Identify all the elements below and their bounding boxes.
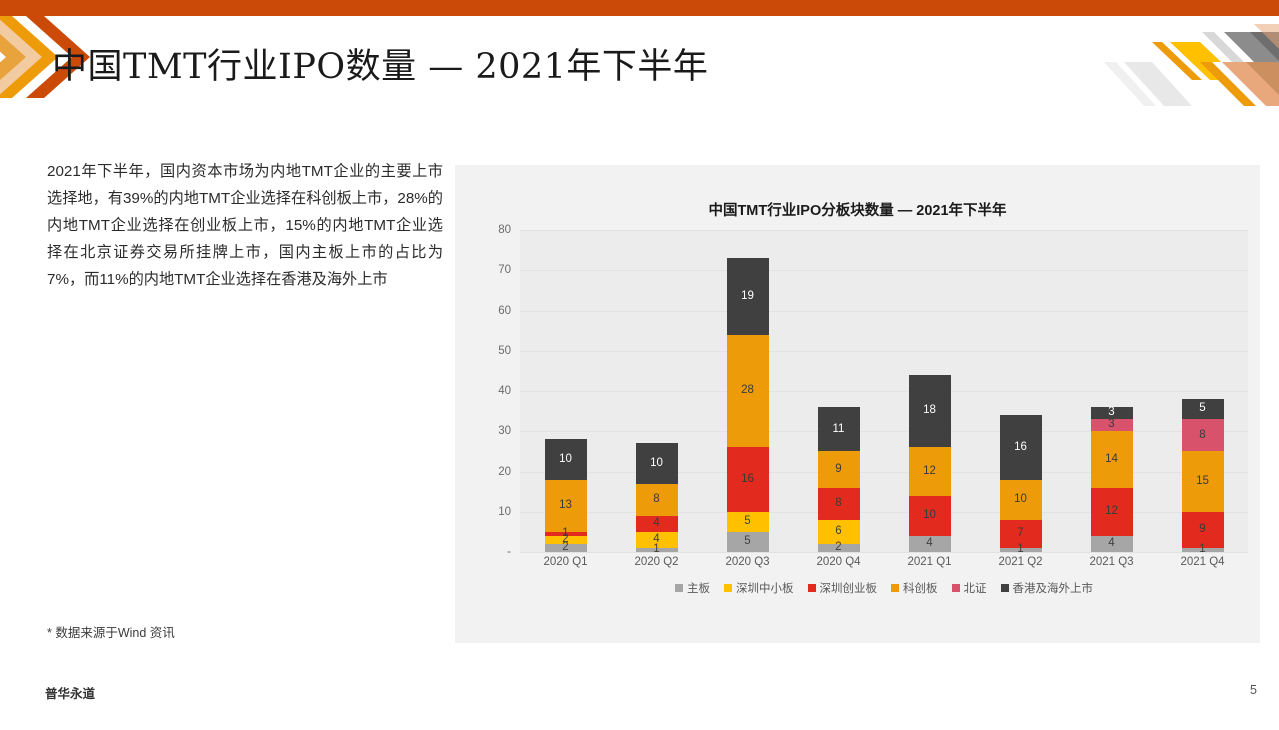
bar-column[interactable]: 19281655 bbox=[702, 230, 793, 552]
page-title: 中国TMT行业IPO数量 — 2021年下半年 bbox=[52, 38, 708, 89]
bar-segment[interactable]: 18 bbox=[909, 375, 951, 447]
bar-segment-value: 2 bbox=[835, 542, 841, 554]
bar-segment-value: 6 bbox=[835, 526, 841, 538]
bar-segment-value: 11 bbox=[833, 424, 845, 436]
bar-segment-value: 7 bbox=[1017, 528, 1023, 540]
header-chevron-decoration-right bbox=[1104, 16, 1279, 106]
bar-segment[interactable]: 8 bbox=[818, 488, 860, 520]
legend-swatch-icon bbox=[891, 584, 899, 592]
bar-stack: 581591 bbox=[1182, 399, 1224, 552]
bar-segment-value: 10 bbox=[1014, 494, 1027, 506]
body-paragraph: 2021年下半年，国内资本市场为内地TMT企业的主要上市选择地，有39%的内地T… bbox=[47, 158, 443, 293]
legend-swatch-icon bbox=[724, 584, 732, 592]
bar-stack: 161071 bbox=[1000, 415, 1042, 552]
bar-segment-value: 12 bbox=[1105, 506, 1118, 518]
bar-segment[interactable]: 9 bbox=[818, 451, 860, 487]
bar-segment[interactable]: 19 bbox=[727, 258, 769, 334]
bar-segment[interactable]: 16 bbox=[727, 447, 769, 511]
bar-segment-value: 14 bbox=[1105, 454, 1118, 466]
bar-segment-value: 13 bbox=[559, 500, 572, 512]
bar-segment[interactable]: 14 bbox=[1091, 431, 1133, 487]
bar-segment-value: 1 bbox=[1017, 544, 1023, 556]
legend-item[interactable]: 香港及海外上市 bbox=[1001, 580, 1094, 596]
chart-legend: 主板深圳中小板深圳创业板科创板北证香港及海外上市 bbox=[520, 580, 1248, 596]
x-axis-tick-label: 2020 Q2 bbox=[611, 556, 702, 568]
bar-column[interactable]: 1013122 bbox=[520, 230, 611, 552]
x-axis-tick-label: 2020 Q1 bbox=[520, 556, 611, 568]
chart-plot-area: -1020304050607080 1013122108441192816551… bbox=[465, 230, 1250, 730]
bar-segment-value: 1 bbox=[1199, 544, 1205, 556]
chart-card: 中国TMT行业IPO分板块数量 — 2021年下半年 -102030405060… bbox=[455, 165, 1260, 643]
bar-column[interactable]: 581591 bbox=[1157, 230, 1248, 552]
chart-title: 中国TMT行业IPO分板块数量 — 2021年下半年 bbox=[455, 199, 1260, 220]
legend-swatch-icon bbox=[1001, 584, 1009, 592]
bar-segment[interactable]: 3 bbox=[1091, 407, 1133, 419]
bar-segment[interactable]: 2 bbox=[818, 544, 860, 552]
chart-bars: 1013122108441192816551198621812104161071… bbox=[520, 230, 1248, 552]
y-axis-tick-label: 80 bbox=[498, 224, 511, 236]
bar-segment[interactable]: 12 bbox=[1091, 488, 1133, 536]
y-axis-tick-label: 10 bbox=[498, 506, 511, 518]
bar-segment[interactable]: 8 bbox=[1182, 419, 1224, 451]
bar-segment[interactable]: 8 bbox=[636, 484, 678, 516]
bar-segment-value: 16 bbox=[1014, 442, 1027, 454]
bar-segment-value: 5 bbox=[1199, 403, 1205, 415]
y-axis-tick-label: 30 bbox=[498, 425, 511, 437]
source-note: * 数据来源于Wind 资讯 bbox=[47, 622, 175, 641]
gridline bbox=[520, 552, 1248, 553]
x-axis-tick-label: 2021 Q1 bbox=[884, 556, 975, 568]
legend-item[interactable]: 主板 bbox=[675, 580, 710, 596]
legend-swatch-icon bbox=[952, 584, 960, 592]
x-axis-tick-label: 2021 Q2 bbox=[975, 556, 1066, 568]
bar-segment[interactable]: 4 bbox=[636, 516, 678, 532]
y-axis-tick-label: 20 bbox=[498, 466, 511, 478]
page-number: 5 bbox=[1250, 683, 1257, 697]
bar-segment-value: 16 bbox=[741, 474, 754, 486]
x-axis-tick-label: 2020 Q3 bbox=[702, 556, 793, 568]
bar-segment-value: 1 bbox=[653, 544, 659, 556]
bar-segment-value: 4 bbox=[1108, 538, 1114, 550]
bar-segment[interactable]: 10 bbox=[909, 496, 951, 536]
x-axis-tick-label: 2021 Q4 bbox=[1157, 556, 1248, 568]
bar-segment-value: 18 bbox=[923, 405, 936, 417]
legend-label: 主板 bbox=[687, 580, 710, 596]
bar-segment[interactable]: 11 bbox=[818, 407, 860, 451]
bar-stack: 19281655 bbox=[727, 258, 769, 552]
bar-segment[interactable]: 5 bbox=[727, 532, 769, 552]
bar-column[interactable]: 3314124 bbox=[1066, 230, 1157, 552]
bar-segment[interactable]: 28 bbox=[727, 335, 769, 448]
chevron-right-graphic bbox=[1104, 16, 1279, 106]
legend-label: 北证 bbox=[964, 580, 987, 596]
bar-segment[interactable]: 10 bbox=[636, 443, 678, 483]
bar-segment-value: 3 bbox=[1108, 407, 1114, 419]
chart-y-axis: -1020304050607080 bbox=[465, 230, 515, 552]
y-axis-tick-label: 60 bbox=[498, 305, 511, 317]
bar-segment-value: 5 bbox=[744, 516, 750, 528]
bar-segment-value: 8 bbox=[835, 498, 841, 510]
bar-segment-value: 9 bbox=[835, 464, 841, 476]
bar-stack: 108441 bbox=[636, 443, 678, 552]
x-axis-tick-label: 2020 Q4 bbox=[793, 556, 884, 568]
legend-swatch-icon bbox=[675, 584, 683, 592]
bar-segment-value: 10 bbox=[923, 510, 936, 522]
legend-item[interactable]: 深圳创业板 bbox=[808, 580, 878, 596]
bar-segment[interactable]: 5 bbox=[1182, 399, 1224, 419]
bar-segment[interactable]: 1 bbox=[636, 548, 678, 552]
x-axis-tick-label: 2021 Q3 bbox=[1066, 556, 1157, 568]
bar-segment-value: 3 bbox=[1108, 419, 1114, 431]
bar-segment[interactable]: 1 bbox=[1000, 548, 1042, 552]
bar-segment[interactable]: 5 bbox=[727, 512, 769, 532]
bar-segment-value: 8 bbox=[1199, 430, 1205, 442]
bar-segment[interactable]: 13 bbox=[545, 480, 587, 532]
legend-label: 深圳创业板 bbox=[820, 580, 878, 596]
bar-segment-value: 4 bbox=[926, 538, 932, 550]
brand-label: 普华永道 bbox=[45, 683, 95, 702]
bar-stack: 3314124 bbox=[1091, 407, 1133, 552]
bar-segment-value: 8 bbox=[653, 494, 659, 506]
bar-segment[interactable]: 4 bbox=[909, 536, 951, 552]
legend-item[interactable]: 深圳中小板 bbox=[724, 580, 794, 596]
bar-segment-value: 15 bbox=[1196, 476, 1209, 488]
bar-segment-value: 12 bbox=[923, 466, 936, 478]
bar-segment-value: 28 bbox=[741, 385, 754, 397]
bar-segment[interactable]: 16 bbox=[1000, 415, 1042, 479]
legend-label: 香港及海外上市 bbox=[1013, 580, 1094, 596]
legend-item[interactable]: 科创板 bbox=[891, 580, 938, 596]
legend-item[interactable]: 北证 bbox=[952, 580, 987, 596]
bar-segment[interactable]: 12 bbox=[909, 447, 951, 495]
bar-segment[interactable]: 1 bbox=[1182, 548, 1224, 552]
y-axis-tick-label: 70 bbox=[498, 264, 511, 276]
bar-stack: 1812104 bbox=[909, 375, 951, 552]
legend-swatch-icon bbox=[808, 584, 816, 592]
bar-column[interactable]: 108441 bbox=[611, 230, 702, 552]
bar-segment[interactable]: 2 bbox=[545, 544, 587, 552]
bar-stack: 1013122 bbox=[545, 439, 587, 552]
chart-x-axis: 2020 Q12020 Q22020 Q32020 Q42021 Q12021 … bbox=[520, 556, 1248, 576]
bar-segment-value: 10 bbox=[650, 458, 663, 470]
bar-segment[interactable]: 10 bbox=[1000, 480, 1042, 520]
y-axis-tick-label: 50 bbox=[498, 345, 511, 357]
bar-segment[interactable]: 15 bbox=[1182, 451, 1224, 511]
bar-segment-value: 9 bbox=[1199, 524, 1205, 536]
y-axis-tick-label: - bbox=[507, 546, 511, 558]
bar-column[interactable]: 119862 bbox=[793, 230, 884, 552]
bar-segment-value: 5 bbox=[744, 536, 750, 548]
bar-column[interactable]: 1812104 bbox=[884, 230, 975, 552]
legend-label: 科创板 bbox=[903, 580, 938, 596]
bar-column[interactable]: 161071 bbox=[975, 230, 1066, 552]
bar-segment-value: 19 bbox=[741, 291, 754, 303]
bar-segment-value: 4 bbox=[653, 518, 659, 530]
y-axis-tick-label: 40 bbox=[498, 385, 511, 397]
legend-label: 深圳中小板 bbox=[736, 580, 794, 596]
header-accent-bar bbox=[0, 0, 1279, 16]
bar-segment-value: 10 bbox=[559, 454, 572, 466]
bar-segment-value: 2 bbox=[562, 542, 568, 554]
bar-segment[interactable]: 4 bbox=[1091, 536, 1133, 552]
bar-segment[interactable]: 3 bbox=[1091, 419, 1133, 431]
bar-stack: 119862 bbox=[818, 407, 860, 552]
bar-segment[interactable]: 10 bbox=[545, 439, 587, 479]
